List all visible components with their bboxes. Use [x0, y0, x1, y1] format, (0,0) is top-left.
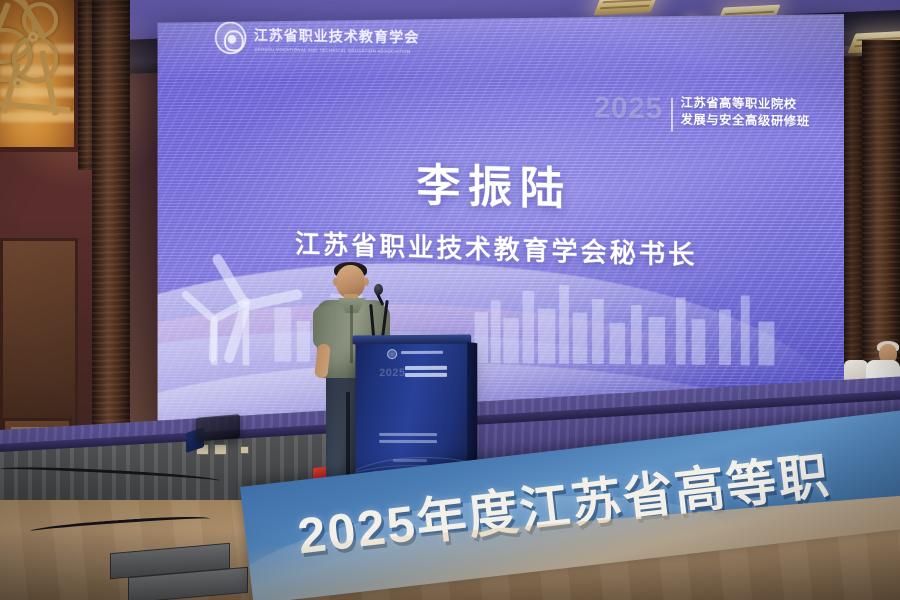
podium-title-line1-bar	[405, 366, 447, 370]
skyline-silhouette	[297, 321, 310, 362]
speaker-ear	[364, 278, 369, 286]
gold-lattice-panel	[0, 0, 78, 152]
screen-org-name-cn: 江苏省职业技术教育学会	[254, 25, 420, 48]
skyline-silhouette	[491, 301, 501, 364]
led-screen: 江苏省职业技术教育学会 JIANGSU VOCATIONAL AND TECHN…	[158, 14, 844, 446]
podium-emblem-icon	[387, 349, 397, 359]
association-emblem-icon	[215, 21, 247, 54]
screen-event-badge: 2025 江苏省高等职业院校 发展与安全高级研修班	[594, 94, 810, 134]
stage-monitor-left	[196, 414, 240, 442]
podium-host-line1-bar	[379, 433, 437, 436]
screen-org-logo: 江苏省职业技术教育学会 JIANGSU VOCATIONAL AND TECHN…	[215, 21, 420, 57]
podium-org-name-bar	[401, 351, 443, 354]
skyline-silhouette	[559, 285, 569, 364]
screen-event-line2: 发展与安全高级研修班	[681, 111, 810, 129]
podium-title-line2-bar	[405, 373, 447, 377]
speaker-sleeve	[313, 306, 333, 348]
skyline-silhouette	[503, 318, 518, 363]
podium-year: 2025	[379, 367, 405, 379]
skyline-silhouette	[719, 309, 731, 365]
conference-stage-photo: 江苏省职业技术教育学会 JIANGSU VOCATIONAL AND TECHN…	[0, 0, 900, 600]
skyline-silhouette	[274, 307, 291, 361]
skyline-silhouette	[692, 319, 706, 365]
wood-column	[92, 0, 130, 470]
wall-outlet	[240, 446, 249, 454]
skyline-silhouette	[631, 305, 642, 364]
podium-host-line2-bar	[379, 440, 437, 443]
microphone-head-icon	[374, 284, 383, 295]
screen-event-line1: 江苏省高等职业院校	[681, 95, 810, 113]
lattice-ring-icon	[12, 36, 58, 82]
screen-event-year: 2025	[594, 94, 663, 125]
wind-turbine-blade-icon	[209, 319, 218, 362]
screen-speaker-name: 李振陆	[295, 147, 698, 221]
speaker-shirt-placket	[350, 305, 353, 363]
skyline-silhouette	[573, 313, 588, 364]
screen-speaker-block: 李振陆 江苏省职业技术教育学会秘书长	[295, 147, 698, 272]
skyline-silhouette	[523, 291, 535, 364]
wall-outlet	[214, 444, 227, 455]
skyline-silhouette	[741, 296, 750, 366]
badge-divider	[671, 98, 673, 132]
skyline-silhouette	[759, 322, 775, 366]
speaker-ear	[333, 278, 338, 286]
skyline-silhouette	[610, 323, 626, 365]
skyline-silhouette	[538, 309, 555, 364]
podium-top-surface	[352, 335, 471, 345]
screen-org-name-en: JIANGSU VOCATIONAL AND TECHNICAL EDUCATI…	[254, 47, 420, 54]
skyline-silhouette	[676, 297, 686, 364]
speaker-leg-gap	[346, 392, 350, 486]
skyline-silhouette	[592, 299, 604, 364]
skyline-silhouette	[649, 317, 666, 365]
